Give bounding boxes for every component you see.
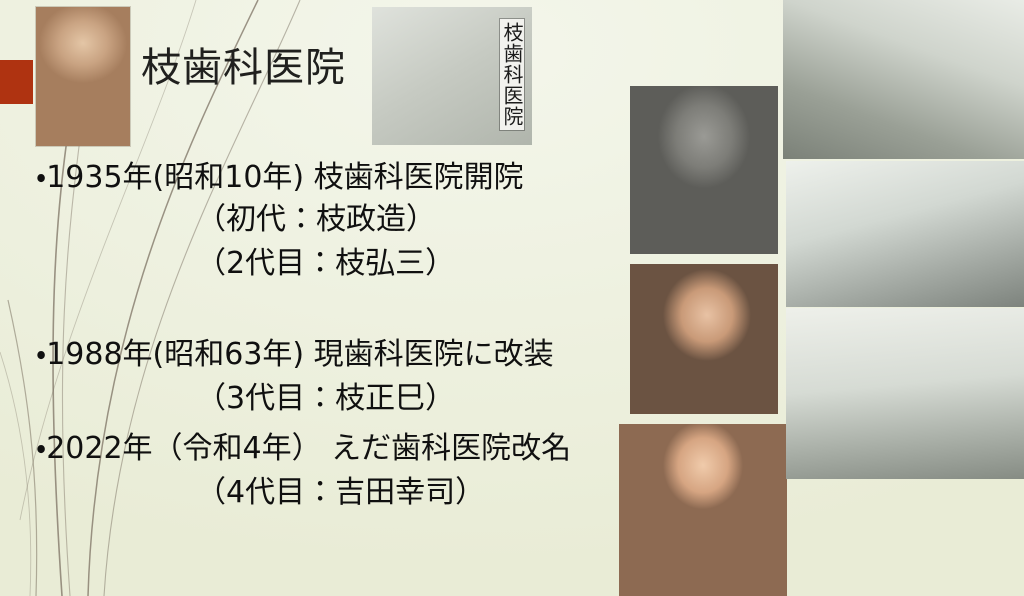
slide-canvas: 枝歯科医院 枝歯科医院 ・1935年(昭和10年) 枝歯科医院開院 （初代：枝政…	[0, 0, 1024, 596]
photo-founder-portrait	[36, 7, 130, 146]
history-generation-1st: （初代：枝政造）	[196, 205, 436, 235]
accent-bar	[0, 60, 33, 104]
photo-signboard: 枝歯科医院	[372, 7, 532, 145]
page-title: 枝歯科医院	[141, 48, 346, 88]
history-generation-4th: （4代目：吉田幸司）	[196, 478, 485, 508]
history-year-2022: ・2022年（令和4年） えだ歯科医院改名	[36, 434, 571, 464]
photo-new-building-image	[786, 308, 1024, 479]
photo-old-building-image	[783, 0, 1024, 159]
photo-generation3-image	[630, 264, 778, 414]
photo-clinic-interior	[786, 161, 1024, 307]
history-generation-3rd: （3代目：枝正巳）	[196, 384, 455, 414]
photo-generation3-portrait	[630, 264, 778, 414]
photo-clinic-interior-image	[786, 161, 1024, 307]
signboard-text: 枝歯科医院	[500, 19, 524, 130]
photo-signboard-image: 枝歯科医院	[372, 7, 532, 145]
photo-generation2-image	[630, 86, 778, 254]
photo-generation2-portrait	[630, 86, 778, 254]
photo-old-building	[783, 0, 1024, 159]
history-year-1935: ・1935年(昭和10年) 枝歯科医院開院	[36, 163, 524, 193]
photo-founder-image	[36, 7, 130, 146]
history-year-1988: ・1988年(昭和63年) 現歯科医院に改装	[36, 340, 554, 370]
history-generation-2nd: （2代目：枝弘三）	[196, 249, 455, 279]
photo-new-building	[786, 308, 1024, 479]
photo-generation4-portrait	[619, 424, 787, 596]
photo-generation4-image	[619, 424, 787, 596]
